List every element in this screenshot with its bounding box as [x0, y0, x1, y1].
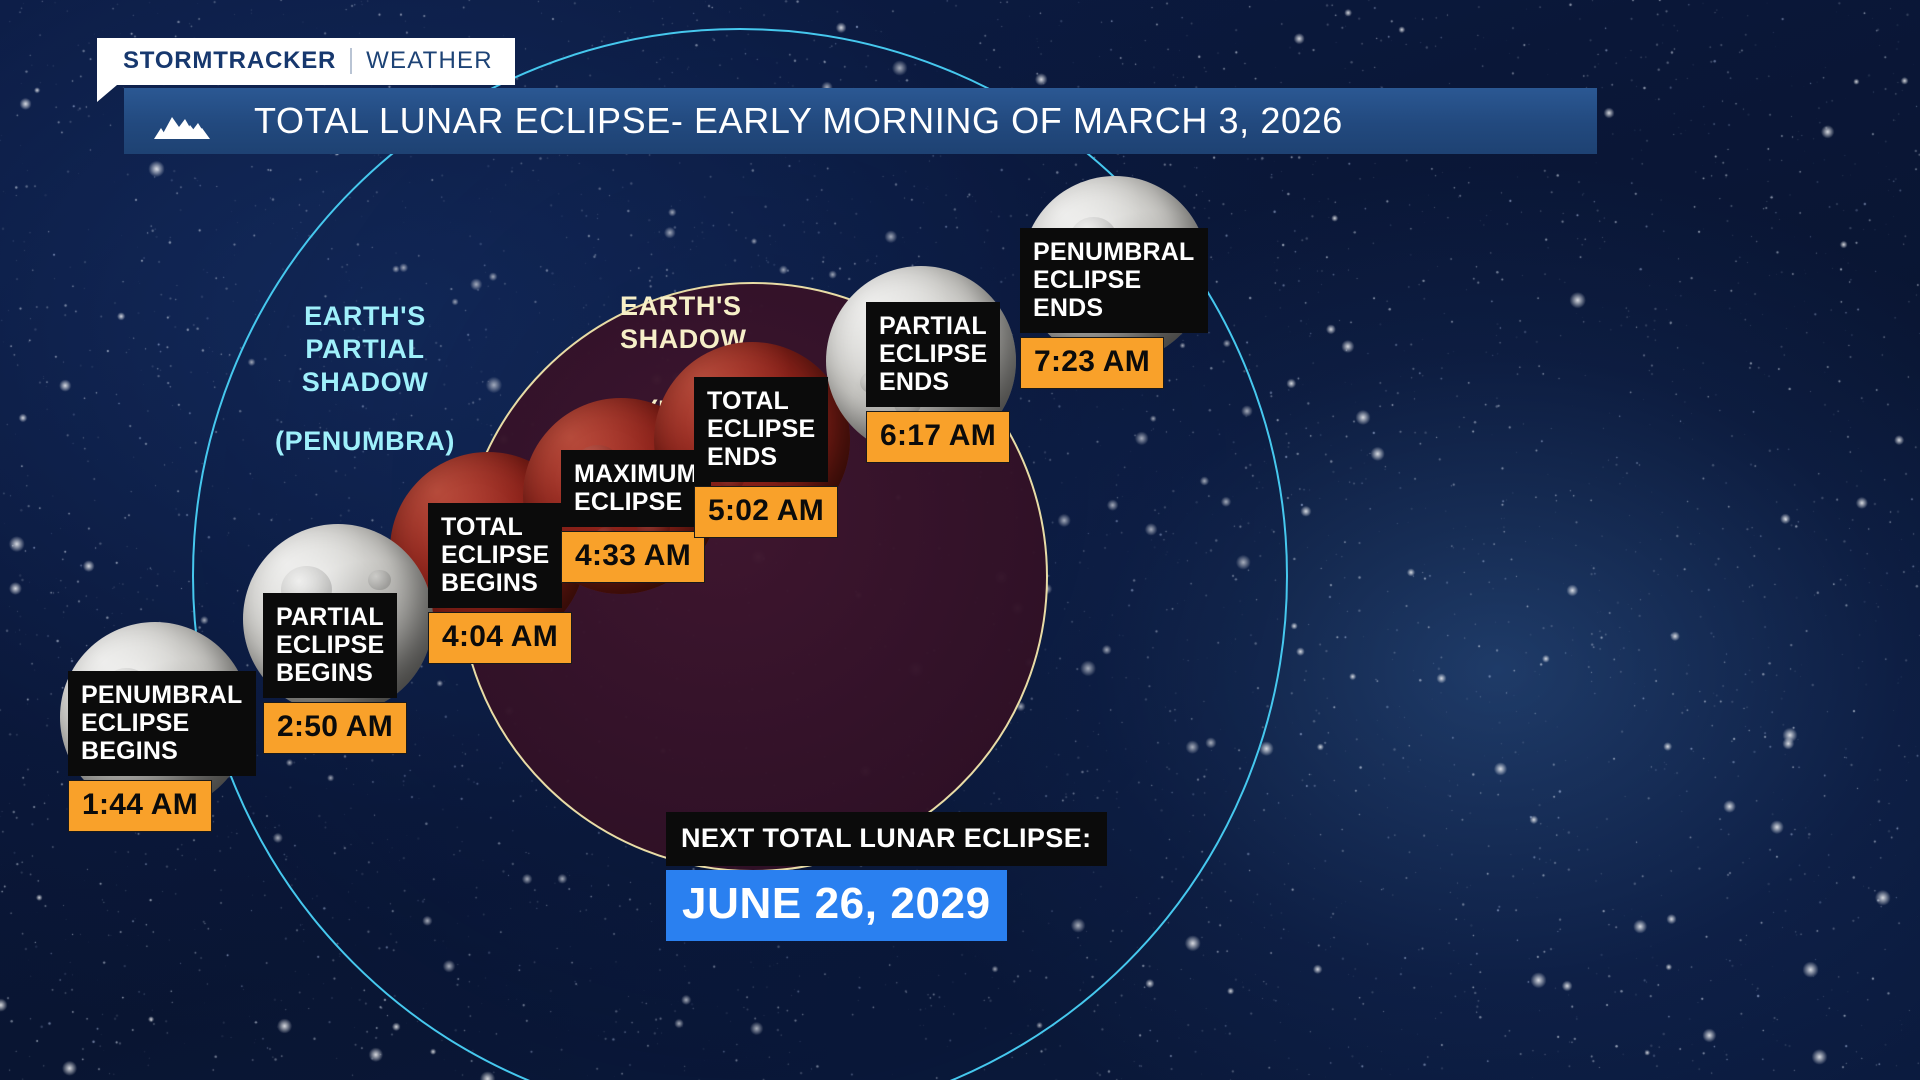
phase-time-badge: 6:17 AM	[866, 411, 1010, 463]
brand-secondary-label: WEATHER	[366, 47, 493, 75]
phase-time-badge: 1:44 AM	[68, 780, 212, 832]
next-eclipse-block: NEXT TOTAL LUNAR ECLIPSE: JUNE 26, 2029	[666, 812, 1107, 941]
phase-caption: PARTIAL ECLIPSE BEGINS	[263, 593, 397, 698]
callout-penumbral-begins: PENUMBRAL ECLIPSE BEGINS 1:44 AM	[68, 671, 256, 832]
brand-primary-label: STORMTRACKER	[123, 47, 336, 75]
brand-tab: STORMTRACKER WEATHER	[97, 38, 515, 85]
eclipse-graphic: EARTH'S PARTIAL SHADOW (PENUMBRA) EARTH'…	[0, 0, 1920, 1080]
penumbra-zone-label: EARTH'S PARTIAL SHADOW (PENUMBRA)	[255, 300, 475, 458]
brand-divider	[350, 48, 352, 74]
phase-time-badge: 4:04 AM	[428, 612, 572, 664]
callout-total-begins: TOTAL ECLIPSE BEGINS 4:04 AM	[428, 503, 572, 664]
callout-partial-begins: PARTIAL ECLIPSE BEGINS 2:50 AM	[263, 593, 407, 754]
phase-time-badge: 7:23 AM	[1020, 337, 1164, 389]
penumbra-zone-title: EARTH'S PARTIAL SHADOW	[302, 301, 429, 397]
phase-time-badge: 4:33 AM	[561, 531, 705, 583]
callout-total-ends: TOTAL ECLIPSE ENDS 5:02 AM	[694, 377, 838, 538]
phase-time-badge: 5:02 AM	[694, 486, 838, 538]
callout-penumbral-ends: PENUMBRAL ECLIPSE ENDS 7:23 AM	[1020, 228, 1208, 389]
phase-caption: PENUMBRAL ECLIPSE BEGINS	[68, 671, 256, 776]
phase-time-badge: 2:50 AM	[263, 702, 407, 754]
phase-caption: TOTAL ECLIPSE BEGINS	[428, 503, 562, 608]
phase-caption: MAXIMUM ECLIPSE	[561, 450, 711, 527]
mountain-icon	[152, 101, 226, 141]
next-eclipse-date: JUNE 26, 2029	[666, 870, 1007, 941]
phase-caption: TOTAL ECLIPSE ENDS	[694, 377, 828, 482]
callout-partial-ends: PARTIAL ECLIPSE ENDS 6:17 AM	[866, 302, 1010, 463]
phase-caption: PARTIAL ECLIPSE ENDS	[866, 302, 1000, 407]
phase-caption: PENUMBRAL ECLIPSE ENDS	[1020, 228, 1208, 333]
penumbra-zone-sublabel: (PENUMBRA)	[255, 425, 475, 458]
callout-maximum: MAXIMUM ECLIPSE 4:33 AM	[561, 450, 711, 583]
next-eclipse-caption: NEXT TOTAL LUNAR ECLIPSE:	[666, 812, 1107, 866]
page-title: TOTAL LUNAR ECLIPSE- EARLY MORNING OF MA…	[254, 100, 1343, 142]
title-bar: TOTAL LUNAR ECLIPSE- EARLY MORNING OF MA…	[124, 88, 1597, 154]
